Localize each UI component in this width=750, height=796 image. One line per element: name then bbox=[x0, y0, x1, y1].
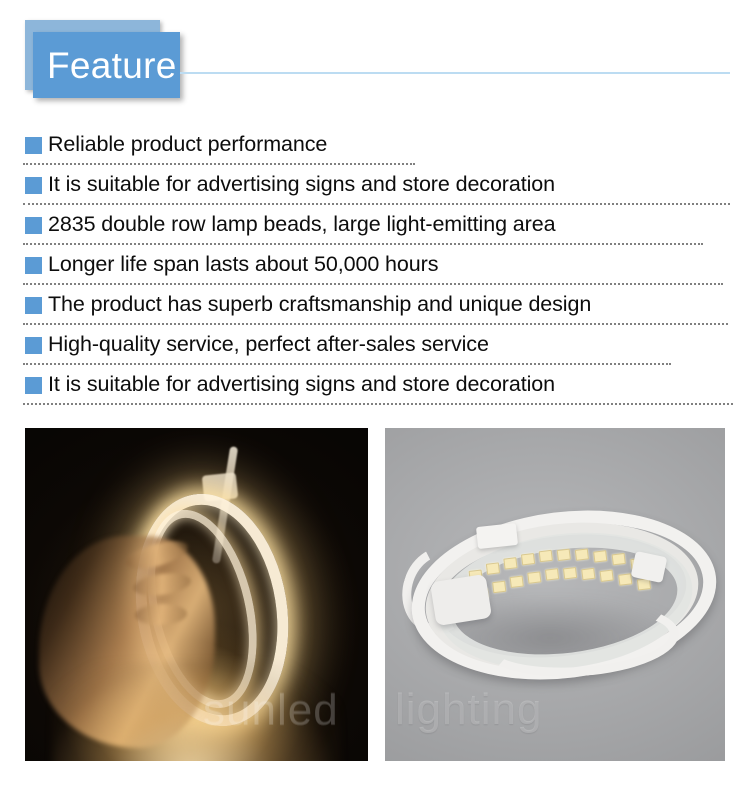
feature-title-box: Feature bbox=[33, 32, 180, 98]
feature-list-item: The product has superb craftsmanship and… bbox=[0, 288, 750, 328]
feature-list: Reliable product performance It is suita… bbox=[0, 128, 750, 408]
strip-connector bbox=[476, 523, 518, 549]
product-photo-illuminated: sunled bbox=[25, 428, 368, 761]
feature-list-item: It is suitable for advertising signs and… bbox=[0, 168, 750, 208]
feature-item-separator bbox=[23, 321, 728, 325]
bullet-square-icon bbox=[25, 297, 42, 314]
feature-item-label: Longer life span lasts about 50,000 hour… bbox=[48, 254, 438, 276]
bullet-square-icon bbox=[25, 337, 42, 354]
feature-list-item: Longer life span lasts about 50,000 hour… bbox=[0, 248, 750, 288]
product-gallery: sunled bbox=[0, 428, 750, 762]
feature-item-label: It is suitable for advertising signs and… bbox=[48, 174, 555, 196]
page-title: Feature bbox=[33, 47, 177, 84]
power-plug-block bbox=[430, 574, 492, 626]
bullet-square-icon bbox=[25, 217, 42, 234]
feature-item-label: It is suitable for advertising signs and… bbox=[48, 374, 555, 396]
feature-item-label: Reliable product performance bbox=[48, 134, 327, 156]
header-divider-line bbox=[180, 72, 730, 74]
feature-item-label: The product has superb craftsmanship and… bbox=[48, 294, 591, 316]
feature-item-separator bbox=[23, 401, 733, 405]
feature-item-label: High-quality service, perfect after-sale… bbox=[48, 334, 489, 356]
feature-item-separator bbox=[23, 201, 730, 205]
product-photo-coil: lighting bbox=[385, 428, 725, 761]
feature-list-item: It is suitable for advertising signs and… bbox=[0, 368, 750, 408]
feature-list-item: Reliable product performance bbox=[0, 128, 750, 168]
feature-item-separator bbox=[23, 361, 671, 365]
light-glow bbox=[52, 661, 340, 761]
feature-list-item: High-quality service, perfect after-sale… bbox=[0, 328, 750, 368]
feature-item-label: 2835 double row lamp beads, large light-… bbox=[48, 214, 555, 236]
bullet-square-icon bbox=[25, 137, 42, 154]
feature-list-item: 2835 double row lamp beads, large light-… bbox=[0, 208, 750, 248]
bullet-square-icon bbox=[25, 377, 42, 394]
feature-item-separator bbox=[23, 161, 415, 165]
feature-item-separator bbox=[23, 241, 703, 245]
page-header: Feature bbox=[0, 0, 750, 112]
feature-item-separator bbox=[23, 281, 723, 285]
bullet-square-icon bbox=[25, 177, 42, 194]
bullet-square-icon bbox=[25, 257, 42, 274]
